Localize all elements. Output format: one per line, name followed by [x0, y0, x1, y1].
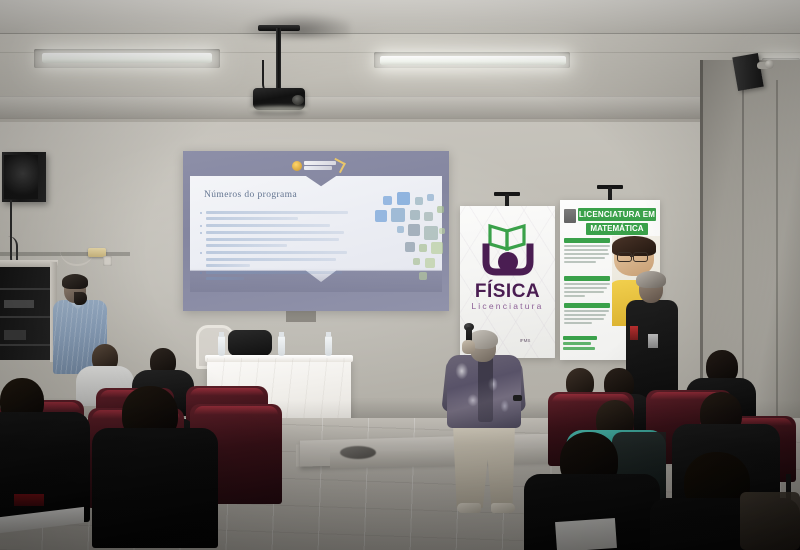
- shirt-badge: [630, 326, 638, 340]
- rack-equipment-2: [4, 330, 26, 340]
- cable-bundle-on-floor: [340, 446, 376, 459]
- chair-behind-table-right: [228, 330, 272, 356]
- bottle-cap-3: [326, 332, 331, 337]
- math-section-3: [564, 303, 610, 326]
- bottle-cap-1: [219, 332, 224, 337]
- slide-mosaic-graphic: [375, 192, 445, 284]
- wall-speaker-right: [732, 53, 764, 91]
- physics-banner-subtitle: Licenciatura: [460, 301, 555, 311]
- banner-stand-pole-math: [608, 187, 612, 201]
- audience-shoulders-front-2: [92, 428, 218, 548]
- standing-man-hair: [636, 271, 666, 288]
- projector-lens-icon: [292, 95, 304, 105]
- wall-panel-seam-2: [776, 80, 778, 420]
- seat-red-detail: [14, 494, 44, 506]
- presenter-wristwatch: [513, 395, 522, 401]
- rack-shelf-2: [0, 316, 50, 318]
- logo-badge-icon: [292, 161, 302, 171]
- door-edge: [700, 60, 703, 420]
- rack-equipment-1: [4, 300, 34, 308]
- slide-bullet-4: [206, 251, 354, 267]
- slide-bullet-3: [206, 231, 354, 247]
- fluorescent-light-right: [380, 56, 566, 65]
- water-bottle-3: [325, 336, 332, 356]
- ceiling-panel-a: [0, 0, 800, 34]
- wall-switch-plate: [103, 256, 112, 266]
- math-banner-header-line-2: MATEMÁTICA: [586, 223, 648, 235]
- bottle-cap-2: [279, 332, 284, 337]
- seat-front-3-top: [194, 406, 278, 422]
- auditorium-photo: Números do programa: [0, 0, 800, 550]
- rack-shelf-1: [0, 288, 50, 290]
- math-section-1: [564, 238, 610, 265]
- speaker-mount-knob: [765, 60, 774, 69]
- presenter-shirt-placket: [478, 356, 493, 422]
- speaker-cone-icon: [4, 155, 38, 199]
- slide-logo: [292, 160, 340, 172]
- photo-glasses-right: [633, 252, 648, 262]
- rack-shelf-3: [0, 344, 50, 346]
- water-bottle-1: [218, 336, 225, 356]
- presenter-trousers: [453, 424, 515, 508]
- presenter-shoe-left: [457, 503, 481, 513]
- bag-on-seat: [740, 492, 800, 550]
- ceiling-seam-1: [0, 33, 800, 34]
- water-bottle-2: [278, 336, 285, 356]
- seat-mid-2-top: [190, 388, 264, 402]
- math-header-2-text: MATEMÁTICA: [586, 223, 648, 235]
- slide-title: Números do programa: [204, 190, 364, 200]
- physics-logo: [480, 222, 536, 276]
- slide-bullet-2: [206, 224, 354, 227]
- projector-glow: [250, 106, 308, 112]
- photo-glasses-left: [617, 252, 632, 262]
- fluorescent-light-left: [42, 53, 212, 63]
- ceiling-panel-b: [0, 96, 800, 118]
- logo-text-line-2: [304, 166, 332, 170]
- slide-bullet-1: [206, 211, 354, 220]
- presenter-hand: [462, 340, 475, 354]
- wall-panel-seam-1: [742, 72, 744, 420]
- physics-banner-title: FÍSICA: [460, 281, 555, 303]
- math-banner-institution-mark: [564, 209, 576, 223]
- physics-banner-footer: IFMS: [508, 338, 542, 343]
- slide-bullet-5: [206, 271, 354, 280]
- left-attendee-beard: [74, 292, 87, 305]
- shirt-logo: [648, 334, 658, 348]
- math-section-4: [563, 336, 611, 350]
- presenter-shoe-right: [491, 503, 515, 513]
- math-header-1-text: LICENCIATURA EM: [578, 208, 656, 221]
- left-attendee-hair: [62, 274, 88, 289]
- slide-bullet-list: [206, 211, 354, 284]
- open-book-icon: [480, 222, 536, 276]
- math-banner-header-line-1: LICENCIATURA EM: [578, 208, 656, 221]
- math-section-2: [564, 276, 610, 299]
- paper-handout: [555, 518, 617, 550]
- ceiling-seam-4: [0, 118, 800, 119]
